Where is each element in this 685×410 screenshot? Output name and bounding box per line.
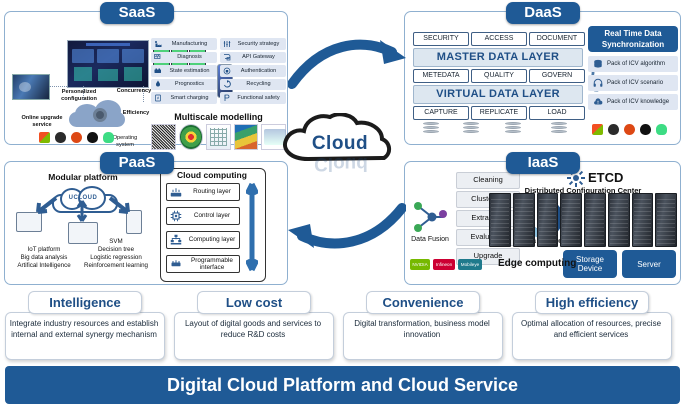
daas-bottom-cell-2[interactable]: LOAD: [529, 106, 585, 120]
arrow-double-vertical: [76, 200, 88, 222]
icv-pack-label: Pack of ICV knowledge: [607, 99, 669, 105]
recycling-icon: [223, 80, 231, 88]
saas-feature-1[interactable]: Security strategy: [220, 38, 286, 50]
daas-top-cell-0[interactable]: SECURITY: [413, 32, 469, 46]
saas-feature-grid: ManufacturingSecurity strategyDiagnosisA…: [151, 38, 286, 104]
functional-safety-icon: [223, 94, 231, 102]
benefit-text-1: Layout of digital goods and services to …: [178, 318, 328, 340]
cloud-layer-label: Control layer: [185, 212, 239, 220]
daas-top-cell-2[interactable]: DOCUMENT: [529, 32, 585, 46]
saas-os-logo-row: [39, 132, 114, 143]
database-cylinder: [423, 122, 439, 136]
daas-os-logo-row: [592, 124, 667, 135]
nvidia-logo: NVIDIA: [410, 259, 430, 270]
saas-feature-label: Smart charging: [165, 95, 214, 101]
cloud-layer-0[interactable]: Routing layer: [166, 183, 240, 201]
saas-feature-6[interactable]: Prognostics: [151, 79, 217, 91]
charging-icon: [154, 94, 162, 102]
saas-feature-label: Prognostics: [165, 81, 214, 87]
database-cylinder: [505, 122, 521, 136]
daas-bottom-cell-0[interactable]: CAPTURE: [413, 106, 469, 120]
daas-mid-cell-1[interactable]: QUALITY: [471, 69, 527, 83]
ubuntu-logo: [71, 132, 82, 143]
arrow-saas-to-daas: [288, 34, 412, 90]
benefit-title-3: High efficiency: [535, 291, 649, 314]
data-fusion-label: Data Fusion: [406, 236, 454, 244]
saas-callout-personalized: Personalized configuration: [51, 89, 107, 102]
benefit-title-0: Intelligence: [28, 291, 142, 314]
ucloud-brand-text: UCLOUD: [52, 195, 114, 201]
layered-model-thumbnail: [234, 124, 259, 150]
paas-right-stack-text: SVM Decision tree Logistic regression Re…: [74, 238, 158, 270]
saas-tab-label: SaaS: [100, 2, 174, 24]
icv-pack-2[interactable]: Pack of ICV knowledge: [588, 94, 678, 110]
factory-icon: [154, 40, 162, 48]
apple-logo: [640, 124, 651, 135]
battery-icon: [154, 67, 162, 75]
prognostics-icon: [154, 80, 162, 88]
saas-feature-label: Authentication: [234, 68, 283, 74]
edge-computing-label: Edge computing: [498, 258, 576, 269]
daas-mid-cell-0[interactable]: METEDATA: [413, 69, 469, 83]
cloud-hub-reflection: Cloud: [296, 158, 386, 174]
saas-feature-3[interactable]: API Gateway: [220, 52, 286, 64]
multiscale-thumbnail-row: [151, 124, 286, 150]
saas-feature-label: Recycling: [234, 81, 283, 87]
paas-left-stack-text: IoT platform Big data analysis Artifical…: [6, 246, 82, 270]
benefit-text-3: Optimal allocation of resources, precise…: [516, 318, 666, 340]
api-gateway-icon: [223, 53, 231, 61]
saas-feature-label: Security strategy: [234, 41, 283, 47]
benefit-title-2: Convenience: [366, 291, 480, 314]
ubuntu-logo: [624, 124, 635, 135]
router-icon: [170, 186, 182, 198]
saas-feature-9[interactable]: Functional safety: [220, 92, 286, 104]
saas-feature-label: Manufacturing: [165, 41, 214, 47]
icv-pack-label: Pack of ICV scenario: [607, 80, 663, 86]
database-icon: [593, 59, 603, 69]
cloud-computing-title: Cloud computing: [160, 170, 264, 180]
daas-bottom-cell-1[interactable]: REPLICATE: [471, 106, 527, 120]
saas-feature-label: Diagnosis: [165, 54, 214, 60]
saas-feature-4[interactable]: State estimation: [151, 65, 217, 77]
cloud-layer-label: Programmable interface: [185, 257, 239, 272]
microstructure-thumbnail: [151, 124, 176, 150]
particle-model-thumbnail: [179, 124, 204, 150]
saas-driver-photo: [12, 74, 50, 100]
cloud-layer-2[interactable]: Computing layer: [166, 231, 240, 249]
windows-logo: [592, 124, 603, 135]
daas-mid-cell-2[interactable]: GOVERN: [529, 69, 585, 83]
authentication-icon: [223, 67, 231, 75]
icv-pack-0[interactable]: Pack of ICV algorithm: [588, 56, 678, 72]
cloud-hub-label: Cloud: [278, 133, 402, 155]
infineon-logo: Infineon: [433, 259, 455, 270]
etcd-title: ETCD: [588, 170, 623, 185]
benefit-text-2: Digital transformation, business model i…: [347, 318, 497, 340]
saas-dashboard-image: [67, 40, 149, 88]
saas-callout-online-upgrade: Online upgrade service: [15, 115, 69, 128]
saas-feature-label: API Gateway: [234, 54, 283, 60]
diagnosis-icon: [154, 53, 162, 61]
knowledge-cloud-icon: [593, 97, 603, 107]
daas-top-cell-1[interactable]: ACCESS: [471, 32, 527, 46]
paas-tab-label: PaaS: [100, 152, 174, 174]
cloud-layer-1[interactable]: Control layer: [166, 207, 240, 225]
saas-feature-8[interactable]: Smart charging: [151, 92, 217, 104]
cloud-layer-3[interactable]: Programmable interface: [166, 255, 240, 273]
scenario-icon: [593, 78, 603, 88]
master-data-layer: MASTER DATA LAYER: [413, 48, 583, 67]
vertical-double-arrow: [246, 180, 258, 274]
mesh-model-thumbnail: [206, 124, 231, 150]
data-fusion-network-icon: [412, 200, 448, 234]
linux-logo: [608, 124, 619, 135]
saas-feature-5[interactable]: Authentication: [220, 65, 286, 77]
icv-pack-label: Pack of ICV algorithm: [607, 61, 665, 67]
saas-feature-label: State estimation: [165, 68, 214, 74]
linux-logo: [55, 132, 66, 143]
real-time-sync-badge: Real Time Data Synchronization: [588, 26, 678, 52]
icv-pack-1[interactable]: Pack of ICV scenario: [588, 75, 678, 91]
saas-callout-efficiency: Efficiency: [117, 110, 155, 117]
server-button[interactable]: Server: [622, 250, 676, 278]
server-rack-image: [489, 195, 677, 247]
interface-icon: [170, 258, 182, 270]
cloud-hub: Cloud Cloud: [278, 113, 402, 175]
bottom-banner: Digital Cloud Platform and Cloud Service: [5, 366, 680, 404]
saas-feature-2[interactable]: Diagnosis: [151, 52, 217, 64]
database-cylinder: [551, 122, 567, 136]
saas-feature-0[interactable]: Manufacturing: [151, 38, 217, 50]
virtual-data-layer: VIRTUAL DATA LAYER: [413, 85, 583, 104]
cloud-layer-label: Routing layer: [185, 188, 239, 196]
saas-feature-7[interactable]: Recycling: [220, 79, 286, 91]
saas-callout-concurrency: Concurrency: [113, 88, 155, 95]
daas-tab-label: DaaS: [506, 2, 580, 24]
android-logo: [103, 132, 114, 143]
arrow-iaas-to-paas: [282, 198, 406, 254]
diagram-canvas: Personalized configuration Concurrency E…: [0, 0, 685, 410]
security-icon: [223, 40, 231, 48]
benefit-text-0: Integrate industry resources and establi…: [9, 318, 159, 340]
apple-logo: [87, 132, 98, 143]
cloud-layer-label: Computing layer: [185, 236, 239, 244]
computing-icon: [170, 234, 182, 246]
cpu-icon: [170, 210, 182, 222]
benefit-title-1: Low cost: [197, 291, 311, 314]
iaas-tab-label: IaaS: [506, 152, 580, 174]
mobileye-logo: Mobileye: [458, 259, 482, 270]
database-cylinder: [463, 122, 479, 136]
saas-panel: Personalized configuration Concurrency E…: [4, 11, 288, 145]
multiscale-modelling-title: Multiscale modelling: [151, 112, 286, 122]
windows-logo: [39, 132, 50, 143]
android-logo: [656, 124, 667, 135]
saas-feature-label: Functional safety: [234, 95, 283, 101]
